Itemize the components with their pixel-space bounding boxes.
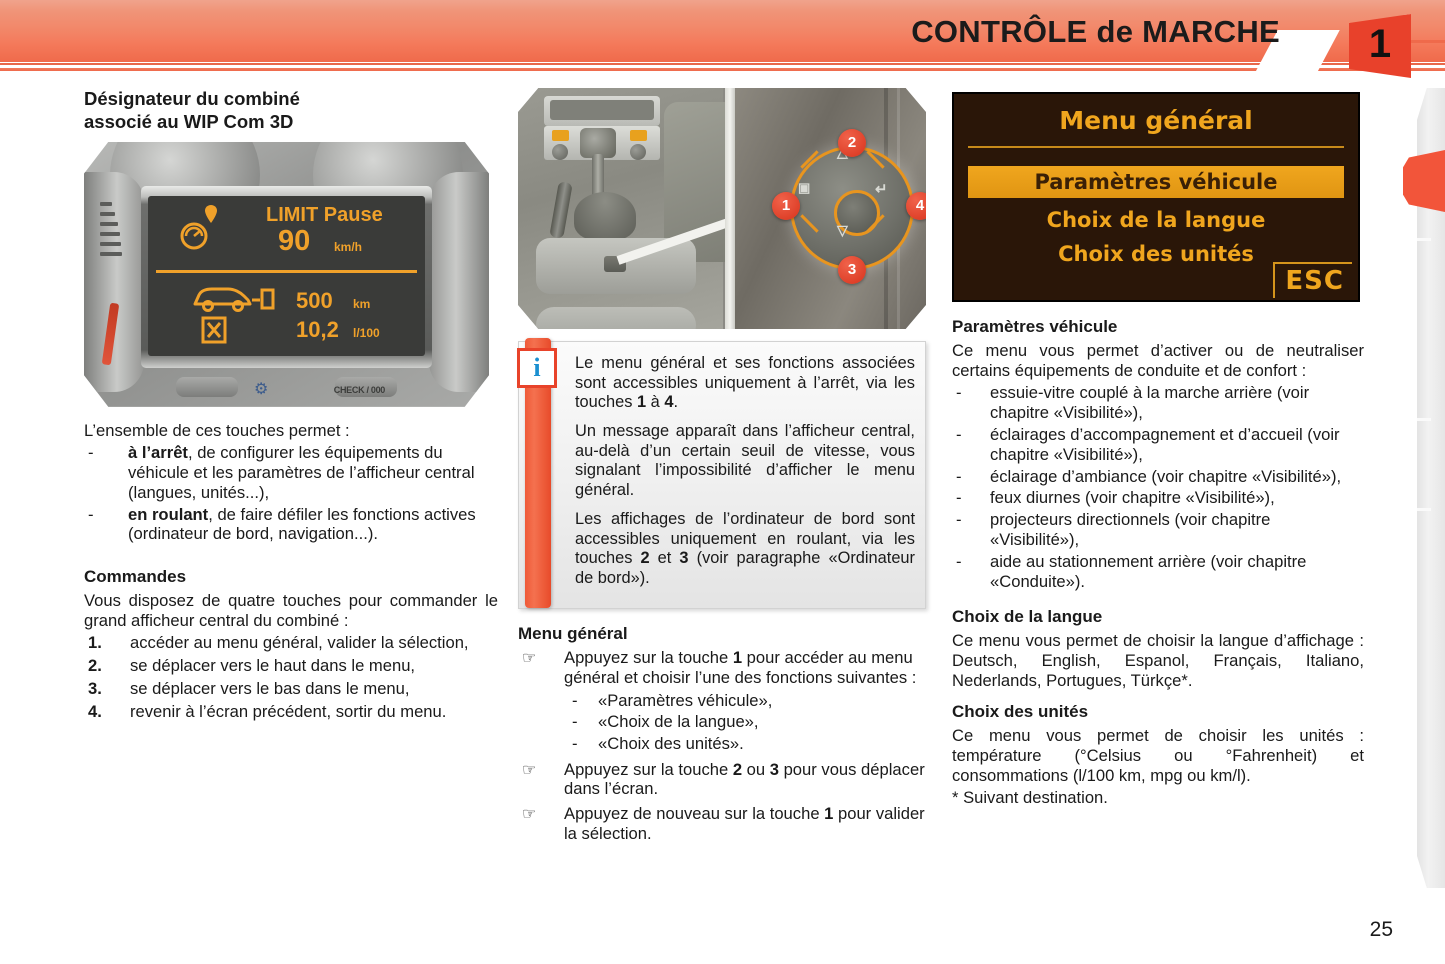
step-text-1: Appuyez sur la touche 1 pour accéder au …: [564, 648, 916, 687]
list-item: ☞ Appuyez sur la touche 1 pour accéder a…: [518, 648, 934, 755]
menu-screen-title: Menu général: [954, 106, 1358, 135]
list-item: 2. se déplacer vers le haut dans le menu…: [84, 656, 498, 676]
edge-notch-1: [1417, 238, 1431, 241]
return-arrow-icon[interactable]: ↵: [875, 180, 888, 198]
chapter-badge: 1: [1349, 14, 1411, 78]
column1-intro: L’ensemble de ces touches permet :: [84, 421, 498, 441]
handbrake-lever: [549, 181, 573, 239]
list-item: éclairages d’accompagnement et d’accueil…: [952, 425, 1364, 465]
list-item: en roulant, de faire défiler les fonctio…: [84, 505, 498, 545]
item-text: revenir à l’écran précédent, sortir du m…: [130, 702, 446, 721]
control-pad-ring[interactable]: [790, 146, 914, 270]
list-item: 3. se déplacer vers le bas dans le menu,: [84, 679, 498, 699]
list-item: 1. accéder au menu général, valider la s…: [84, 633, 498, 653]
parametres-list: essuie-vitre couplé à la marche arrière …: [952, 383, 1364, 592]
list-item: projecteurs directionnels (voir chapitre…: [952, 510, 1364, 550]
heading-line-2: associé au WIP Com 3D: [84, 111, 293, 132]
heading-line-1: Désignateur du combiné: [84, 88, 300, 109]
speed-value: 90: [278, 225, 310, 258]
section-heading-parametres: Paramètres véhicule: [952, 316, 1364, 337]
chapter-badge-rule: [1411, 40, 1445, 43]
range-unit: km: [353, 297, 370, 311]
page-header: CONTRÔLE de MARCHE 1: [0, 0, 1445, 78]
menu-options-list: «Paramètres véhicule», «Choix de la lang…: [564, 690, 934, 755]
triangle-down-icon[interactable]: ▽: [837, 222, 848, 239]
column-middle: △ ▽ ▣ ↵ 1 2 3 4 i Le menu général et ses…: [518, 88, 934, 849]
callout-4: 4: [906, 192, 926, 220]
list-item: à l’arrêt, de configurer les équipements…: [84, 443, 498, 503]
consumption-value: 10,2: [296, 317, 339, 343]
section-heading-designateur: Désignateur du combiné associé au WIP Co…: [84, 88, 498, 134]
air-vent: [550, 100, 654, 120]
section-heading-langue: Choix de la langue: [952, 606, 1364, 627]
amber-indicator-left: [552, 130, 569, 141]
gear-boot: [574, 192, 636, 240]
chapter-number: 1: [1349, 22, 1411, 67]
commandes-intro: Vous disposez de quatre touches pour com…: [84, 591, 498, 631]
car-range-icon: [190, 284, 276, 314]
list-item: «Choix des unités».: [564, 733, 934, 755]
consumption-unit: l/100: [353, 326, 380, 340]
item-number: 4.: [88, 702, 102, 722]
menu-item-parametres-vehicule[interactable]: Paramètres véhicule: [968, 166, 1344, 198]
bullet-bold-2: en roulant: [128, 505, 208, 524]
unites-text: Ce menu vous permet de choisir les unité…: [952, 726, 1364, 786]
cup-holders: [536, 307, 696, 329]
header-rule-upper: [0, 63, 1445, 65]
pin-icon: [204, 204, 218, 224]
section-heading-commandes: Commandes: [84, 566, 498, 587]
list-item: «Choix de la langue»,: [564, 711, 934, 733]
bullet-bold-1: à l’arrêt: [128, 443, 188, 462]
page-number: 25: [1370, 918, 1393, 942]
pointing-hand-icon: ☞: [522, 761, 536, 780]
center-console-photo: △ ▽ ▣ ↵ 1 2 3 4: [518, 88, 926, 329]
edge-notch-2: [1417, 418, 1431, 421]
climate-knob-left: [552, 144, 568, 160]
header-rule-lower: [0, 68, 1445, 71]
cluster-lcd-display: LIMIT Pause 90 km/h 500 km 10,2 l/100: [148, 196, 425, 356]
callout-1: 1: [772, 192, 800, 220]
step-text-2: Appuyez sur la touche 2 ou 3 pour vous d…: [564, 760, 925, 799]
section-heading-menu-general: Menu général: [518, 623, 934, 644]
list-item: ☞ Appuyez de nouveau sur la touche 1 pou…: [518, 804, 934, 844]
information-note-box: i Le menu général et ses fonctions assoc…: [518, 341, 926, 609]
gearbox-indicator-icon: ⚙: [254, 379, 268, 399]
edge-notch-3: [1417, 508, 1431, 511]
speed-unit: km/h: [334, 240, 362, 254]
column-right: Menu général Paramètres véhicule Choix d…: [952, 88, 1364, 809]
callout-2: 2: [838, 129, 866, 157]
page-title: CONTRÔLE de MARCHE: [911, 14, 1280, 50]
footnote: * Suivant destination.: [952, 788, 1364, 808]
pointing-hand-icon: ☞: [522, 649, 536, 668]
list-item: ☞ Appuyez sur la touche 2 ou 3 pour vous…: [518, 760, 934, 800]
list-item: aide au stationnement arrière (voir chap…: [952, 552, 1364, 592]
climate-knob-right: [630, 144, 646, 160]
column1-bullet-list: à l’arrêt, de configurer les équipements…: [84, 443, 498, 545]
step-text-3: Appuyez de nouveau sur la touche 1 pour …: [564, 804, 925, 843]
gauge-ticks: [100, 202, 122, 282]
langue-text: Ce menu vous permet de choisir la langue…: [952, 631, 1364, 691]
limit-label: LIMIT Pause: [266, 204, 383, 227]
info-paragraph-1: Le menu général et ses fonctions associé…: [575, 354, 915, 413]
list-item: «Paramètres véhicule»,: [564, 690, 934, 712]
item-number: 2.: [88, 656, 102, 676]
section-heading-unites: Choix des unités: [952, 701, 1364, 722]
pointing-hand-icon: ☞: [522, 805, 536, 824]
list-item: éclairage d’ambiance (voir chapitre «Vis…: [952, 467, 1364, 487]
right-bezel-trim: [429, 172, 489, 392]
item-text: se déplacer vers le bas dans le menu,: [130, 679, 410, 698]
amber-indicator-right: [630, 130, 647, 141]
lcd-separator: [156, 270, 417, 273]
chapter-edge-tab: [1403, 150, 1445, 212]
range-value: 500: [296, 288, 333, 314]
column-left: Désignateur du combiné associé au WIP Co…: [84, 88, 498, 725]
four-way-control-pad: △ ▽ ▣ ↵ 1 2 3 4: [780, 128, 904, 286]
console-left-half: [518, 88, 723, 329]
item-text: se déplacer vers le haut dans le menu,: [130, 656, 415, 675]
list-item: 4. revenir à l’écran précédent, sortir d…: [84, 702, 498, 722]
photo-divider: [725, 88, 735, 329]
list-item: feux diurnes (voir chapitre «Visibilité»…: [952, 488, 1364, 508]
parametres-intro: Ce menu vous permet d’activer ou de neut…: [952, 341, 1364, 381]
menu-general-screen: Menu général Paramètres véhicule Choix d…: [952, 92, 1360, 302]
information-icon: i: [517, 348, 557, 388]
item-number: 1.: [88, 633, 102, 653]
item-text: accéder au menu général, valider la séle…: [130, 633, 469, 652]
commandes-list: 1. accéder au menu général, valider la s…: [84, 633, 498, 722]
fuel-consumption-icon: [200, 313, 228, 345]
item-number: 3.: [88, 679, 102, 699]
menu-steps-list: ☞ Appuyez sur la touche 1 pour accéder a…: [518, 648, 934, 844]
menu-screen-rule: [968, 146, 1344, 148]
info-paragraph-2: Un message apparaît dans l’afficheur cen…: [575, 422, 915, 501]
callout-3: 3: [838, 256, 866, 284]
list-item: essuie-vitre couplé à la marche arrière …: [952, 383, 1364, 423]
menu-screen-icon[interactable]: ▣: [798, 180, 810, 196]
instrument-cluster-image: LIMIT Pause 90 km/h 500 km 10,2 l/100: [84, 142, 489, 407]
menu-item-choix-langue[interactable]: Choix de la langue: [954, 208, 1358, 232]
cluster-left-button: [176, 377, 238, 397]
check-label: CHECK / 000: [334, 385, 385, 395]
esc-button[interactable]: ESC: [1273, 262, 1352, 298]
info-paragraph-3: Les affichages de l’ordinateur de bord s…: [575, 510, 915, 589]
